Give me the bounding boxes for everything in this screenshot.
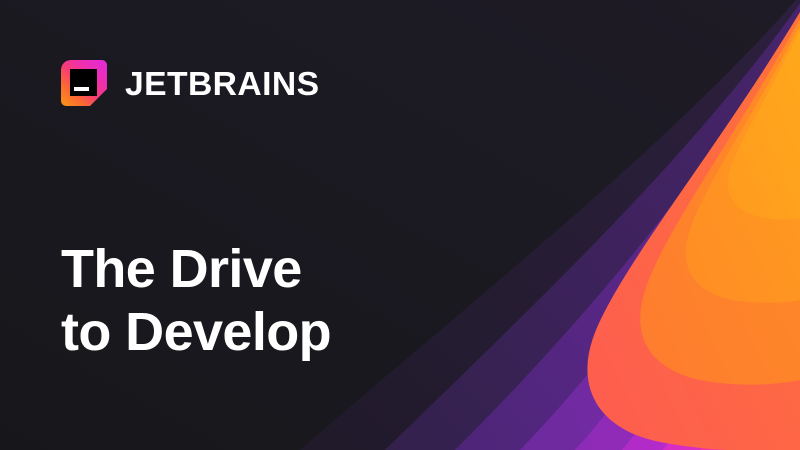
jetbrains-logo-icon [60, 59, 108, 107]
headline-line-2: to Develop [61, 301, 331, 364]
brand-lockup: JETBRAINS [60, 59, 316, 107]
jetbrains-wordmark: JETBRAINS [125, 67, 319, 100]
jetbrains-banner: JETBRAINS The Drive to Develop [0, 0, 800, 450]
jetbrains-logo-shape [60, 59, 108, 107]
headline: The Drive to Develop [61, 238, 331, 363]
headline-line-1: The Drive [61, 238, 331, 301]
